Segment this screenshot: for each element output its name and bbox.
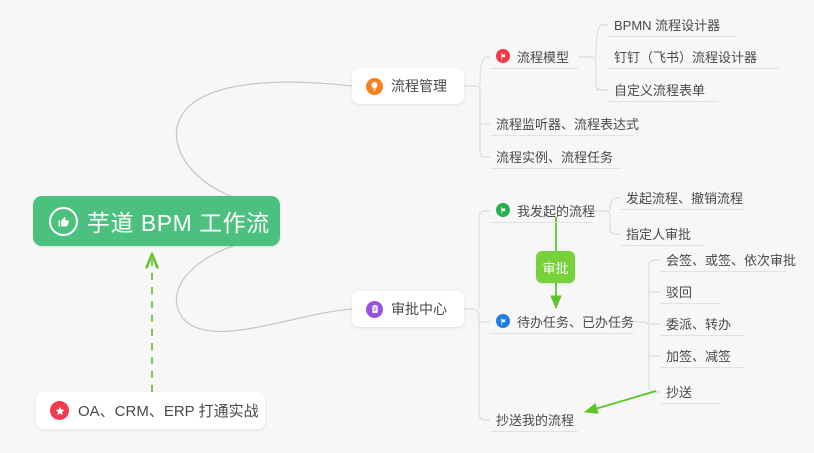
- link-daiban-to-huiqian: [649, 260, 660, 322]
- node-liucheng-jiantingqi[interactable]: 流程监听器、流程表达式: [490, 111, 634, 136]
- node-label-chaosong-wode-liucheng: 抄送我的流程: [496, 410, 574, 429]
- root-node[interactable]: 芋道 BPM 工作流: [33, 196, 280, 246]
- mindmap-canvas: 芋道 BPM 工作流 流程管理 流程模型 BPMN 流程设计器 钉钉（飞书）流程…: [0, 0, 814, 453]
- link-shenpi-to-wofaqi: [479, 211, 490, 309]
- node-label-zidingyi-biaodan: 自定义流程表单: [614, 80, 705, 99]
- node-label-huiqian-huoqian: 会签、或签、依次审批: [666, 250, 796, 269]
- link-wofaqi-to-faqi: [610, 198, 620, 211]
- link-wofaqi-trunk: [592, 211, 620, 234]
- node-weipai-zhuanban[interactable]: 委派、转办: [660, 311, 745, 336]
- link-liucheng-guanli-trunk: [464, 86, 490, 157]
- node-bpmn-sheji[interactable]: BPMN 流程设计器: [608, 12, 736, 37]
- node-label-chaosong: 抄送: [666, 382, 692, 401]
- node-label-liucheng-jiantingqi: 流程监听器、流程表达式: [496, 114, 639, 133]
- node-liucheng-shili[interactable]: 流程实例、流程任务: [490, 144, 621, 169]
- thumbs-up-icon: [49, 207, 78, 236]
- node-huiqian-huoqian[interactable]: 会签、或签、依次审批: [660, 247, 786, 272]
- link-root-to-liucheng-guanli: [176, 82, 352, 207]
- node-label-weipai-zhuanban: 委派、转办: [666, 314, 731, 333]
- node-label-daiban-yiban-renwu: 待办任务、已办任务: [517, 312, 634, 331]
- node-jiaqian-jianqian[interactable]: 加签、减签: [660, 343, 745, 368]
- root-label: 芋道 BPM 工作流: [87, 204, 270, 238]
- node-wo-faqi-de-liucheng[interactable]: 我发起的流程: [490, 198, 592, 223]
- flag-icon: [496, 314, 510, 328]
- node-label-bpmn-sheji: BPMN 流程设计器: [614, 15, 720, 34]
- node-liucheng-moxing[interactable]: 流程模型: [490, 44, 578, 69]
- link-shenpi-trunk: [464, 309, 490, 420]
- branch-label-shenpi-zhongxin: 审批中心: [391, 299, 447, 319]
- flag-icon: [496, 203, 510, 217]
- branch-label-liucheng-guanli: 流程管理: [391, 76, 447, 96]
- node-daiban-yiban-renwu[interactable]: 待办任务、已办任务: [490, 309, 634, 334]
- annotation-badge-shenpi[interactable]: 审批: [536, 251, 575, 283]
- node-chaosong-wode-liucheng[interactable]: 抄送我的流程: [490, 407, 578, 432]
- node-zhidingren-shenpi[interactable]: 指定人审批: [620, 221, 704, 246]
- link-liucheng-guanli-to-moxing: [480, 57, 490, 86]
- arrow-chaosong-to-chaosong-wode: [585, 391, 656, 412]
- branch-node-liucheng-guanli[interactable]: 流程管理: [352, 68, 464, 104]
- lightbulb-icon: [366, 78, 383, 95]
- node-zidingyi-biaodan[interactable]: 自定义流程表单: [608, 77, 718, 102]
- link-moxing-trunk: [578, 57, 608, 90]
- node-label-bohui: 驳回: [666, 282, 692, 301]
- node-dingding-feishu-sheji[interactable]: 钉钉（飞书）流程设计器: [608, 44, 779, 69]
- link-daiban-trunk: [634, 322, 660, 392]
- link-root-to-shenpi-zhongxin: [176, 236, 352, 331]
- node-label-faqi-chexiao: 发起流程、撤销流程: [626, 188, 743, 207]
- node-chaosong[interactable]: 抄送: [660, 379, 720, 404]
- star-icon: [50, 401, 69, 420]
- node-label-liucheng-shili: 流程实例、流程任务: [496, 147, 613, 166]
- clipboard-icon: [366, 301, 383, 318]
- annotation-card-label: OA、CRM、ERP 打通实战: [78, 400, 259, 421]
- annotation-card-oa-crm-erp[interactable]: OA、CRM、ERP 打通实战: [36, 392, 265, 429]
- link-moxing-to-bpmn: [596, 25, 608, 57]
- node-label-zhidingren-shenpi: 指定人审批: [626, 224, 691, 243]
- branch-node-shenpi-zhongxin[interactable]: 审批中心: [352, 291, 464, 327]
- node-label-liucheng-moxing: 流程模型: [517, 47, 569, 66]
- node-bohui[interactable]: 驳回: [660, 279, 720, 304]
- node-label-dingding-feishu-sheji: 钉钉（飞书）流程设计器: [614, 47, 757, 66]
- node-faqi-chexiao[interactable]: 发起流程、撤销流程: [620, 185, 744, 210]
- node-label-jiaqian-jianqian: 加签、减签: [666, 346, 731, 365]
- flag-icon: [496, 49, 510, 63]
- annotation-badge-label: 审批: [542, 258, 568, 277]
- node-label-wo-faqi-de-liucheng: 我发起的流程: [517, 201, 595, 220]
